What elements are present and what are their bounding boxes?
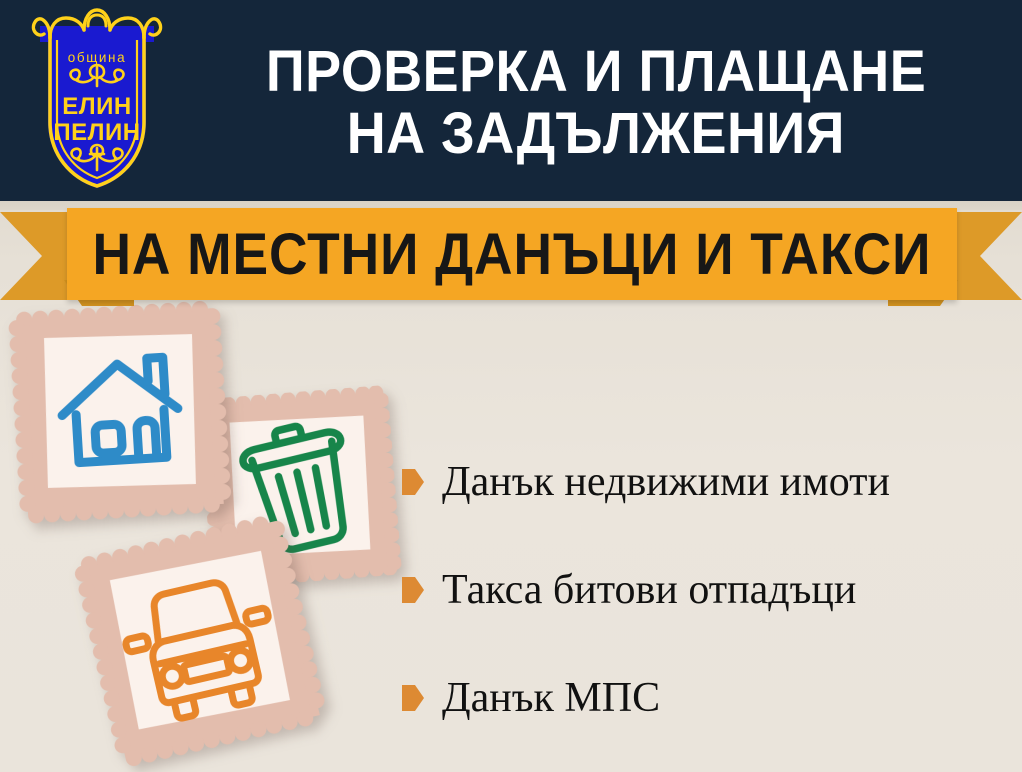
title-line-1: ПРОВЕРКА И ПЛАЩАНЕ	[266, 41, 926, 103]
list-item[interactable]: Данък недвижими имоти	[402, 428, 1012, 536]
svg-text:ЕЛИН: ЕЛИН	[62, 93, 131, 120]
ribbon-banner: НА МЕСТНИ ДАНЪЦИ И ТАКСИ	[0, 208, 1022, 308]
list-item[interactable]: Данък МПС	[402, 644, 1012, 752]
arrow-bullet-icon	[402, 577, 424, 603]
list-item[interactable]: Такса битови отпадъци	[402, 536, 1012, 644]
tax-types-list: Данък недвижими имоти Такса битови отпад…	[402, 428, 1012, 752]
stamp-house	[8, 300, 233, 525]
ribbon-band: НА МЕСТНИ ДАНЪЦИ И ТАКСИ	[67, 208, 957, 300]
ribbon-label: НА МЕСТНИ ДАНЪЦИ И ТАКСИ	[93, 221, 932, 288]
coat-of-arms-icon: община ЕЛИН ПЕЛИН	[26, 4, 168, 194]
arrow-bullet-icon	[402, 685, 424, 711]
svg-text:община: община	[68, 50, 126, 65]
list-item-label: Такса битови отпадъци	[442, 569, 856, 611]
title-line-2: НА ЗАДЪЛЖЕНИЯ	[347, 103, 845, 165]
list-item-label: Данък недвижими имоти	[442, 461, 890, 503]
svg-text:ПЕЛИН: ПЕЛИН	[53, 119, 140, 146]
arrow-bullet-icon	[402, 469, 424, 495]
list-item-label: Данък МПС	[442, 677, 660, 719]
poster-canvas: община ЕЛИН ПЕЛИН ПРОВЕРКА И ПЛАЩАНЕ Н	[0, 0, 1022, 772]
page-title: ПРОВЕРКА И ПЛАЩАНЕ НА ЗАДЪЛЖЕНИЯ	[185, 18, 1007, 188]
